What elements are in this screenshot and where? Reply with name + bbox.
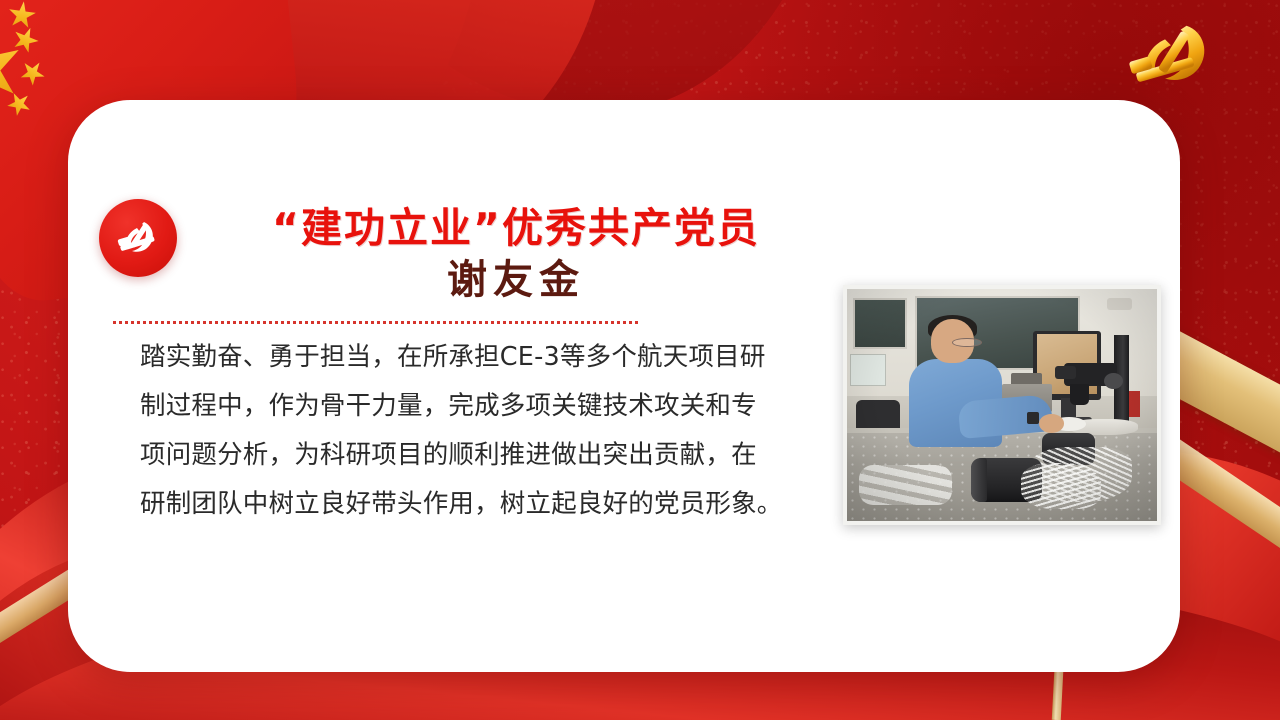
- flag-star-small-1-icon: [6, 0, 38, 31]
- communist-party-emblem-badge: [99, 199, 177, 277]
- body-paragraph: 踏实勤奋、勇于担当，在所承担CE-3等多个航天项目研 制过程中，作为骨干力量，完…: [140, 333, 822, 529]
- flag-star-small-4-icon: [2, 87, 36, 121]
- page-title: “建功立业”优秀共产党员: [196, 206, 836, 252]
- heading-block: “建功立业”优秀共产党员 谢友金: [196, 206, 836, 302]
- dotted-divider: [113, 321, 641, 324]
- body-line: 项问题分析，为科研项目的顺利推进做出突出贡献，在: [140, 431, 822, 480]
- hammer-and-sickle-icon: [113, 213, 163, 263]
- presentation-slide: “建功立业”优秀共产党员 谢友金 踏实勤奋、勇于担当，在所承担CE-3等多个航天…: [0, 0, 1280, 720]
- portrait-photo-laboratory: [843, 285, 1161, 525]
- flag-star-small-3-icon: [15, 56, 50, 91]
- body-line: 制过程中，作为骨干力量，完成多项关键技术攻关和专: [140, 382, 822, 431]
- person-name: 谢友金: [196, 258, 836, 302]
- hammer-and-sickle-gold-emblem: [1108, 16, 1226, 98]
- photo-vignette: [847, 289, 1157, 521]
- body-line: 研制团队中树立良好带头作用，树立起良好的党员形象。: [140, 480, 822, 529]
- body-line: 踏实勤奋、勇于担当，在所承担CE-3等多个航天项目研: [140, 333, 822, 382]
